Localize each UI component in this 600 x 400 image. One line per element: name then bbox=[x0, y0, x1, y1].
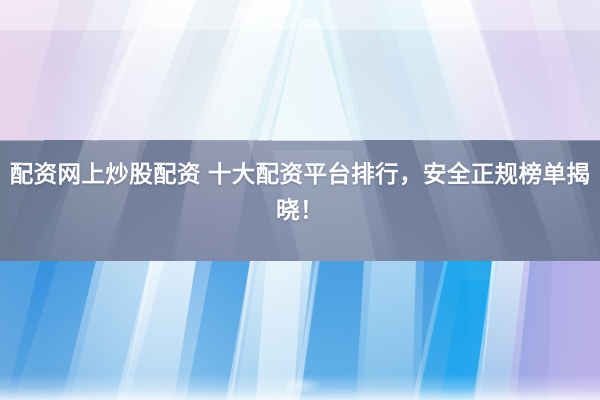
headline-container: 配资网上炒股配资 十大配资平台排行，安全正规榜单揭晓！ bbox=[0, 156, 600, 228]
background-bottom-blue-zone bbox=[0, 261, 600, 400]
promo-banner: 配资网上炒股配资 十大配资平台排行，安全正规榜单揭晓！ bbox=[0, 0, 600, 400]
headline-text: 配资网上炒股配资 十大配资平台排行，安全正规榜单揭晓！ bbox=[0, 156, 600, 228]
background-top-pastel-zone bbox=[0, 0, 600, 141]
